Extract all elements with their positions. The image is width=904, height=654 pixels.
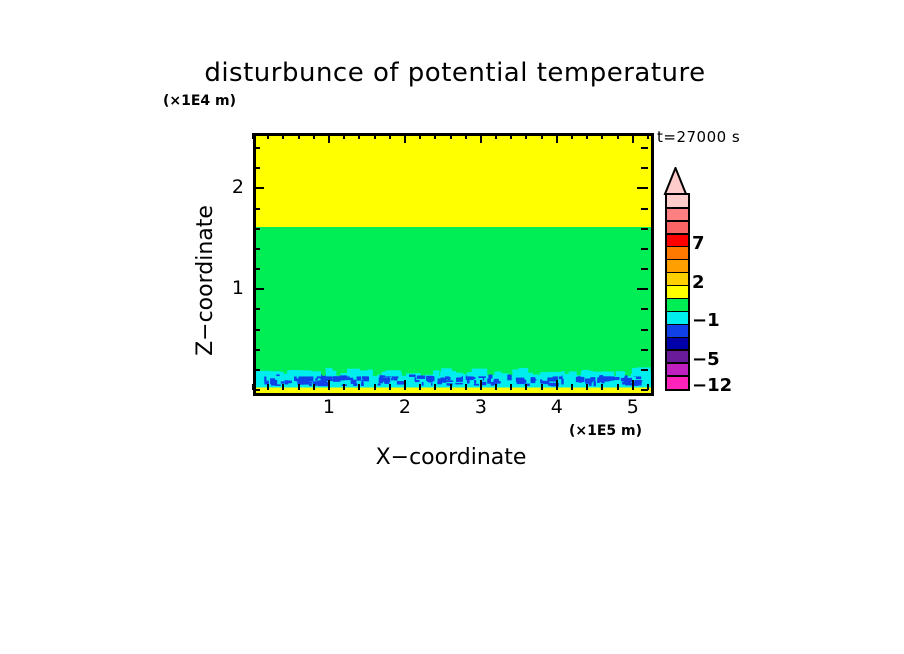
page-title: disturbunce of potential temperature [0,58,904,88]
colorbar-segment-divider [667,375,688,377]
x-minor-tick-top [252,133,254,139]
x-minor-tick [434,384,436,390]
x-minor-tick-top [601,133,603,139]
x-minor-tick-top [358,133,360,139]
y-minor-tick-right [641,167,648,169]
x-minor-tick-top [571,133,573,139]
colorbar-segment-divider [667,272,688,274]
x-minor-tick-top [419,133,421,139]
colorbar-segment [667,376,688,389]
y-minor-tick-right [641,329,648,331]
x-minor-tick-top [541,133,543,139]
y-major-tick-right [637,187,648,189]
y-minor-tick-right [641,147,648,149]
y-minor-tick [253,167,260,169]
x-tick-label: 2 [390,396,420,418]
y-major-tick [253,288,264,290]
x-minor-tick [419,384,421,390]
x-major-tick [480,380,482,390]
x-minor-tick-top [450,133,452,139]
y-minor-tick-right [641,349,648,351]
y-minor-tick-right [641,308,648,310]
x-minor-tick [450,384,452,390]
x-major-tick-top [556,133,558,143]
y-minor-tick-right [641,208,648,210]
x-minor-tick [389,384,391,390]
y-minor-tick [253,248,260,250]
y-major-tick-right [637,288,648,290]
y-minor-tick [253,349,260,351]
x-minor-tick [465,384,467,390]
y-axis-unit-label: (×1E4 m) [163,93,236,109]
y-minor-tick [253,389,260,391]
x-axis-unit-label: (×1E5 m) [569,423,642,439]
x-minor-tick-top [434,133,436,139]
y-axis-title: Z−coordinate [192,168,218,392]
colorbar-tick-label: −1 [692,310,720,331]
plot-area [253,133,654,396]
x-major-tick [328,380,330,390]
x-minor-tick-top [510,133,512,139]
x-minor-tick [510,384,512,390]
x-minor-tick-top [343,133,345,139]
y-minor-tick [253,308,260,310]
colorbar [665,193,690,391]
x-minor-tick [282,384,284,390]
colorbar-tick-label: −5 [692,349,720,370]
y-minor-tick [253,369,260,371]
y-major-tick [253,187,264,189]
x-minor-tick [541,384,543,390]
colorbar-segment-divider [667,207,688,209]
y-tick-label: 1 [224,277,244,299]
colorbar-segment-divider [667,349,688,351]
x-minor-tick-top [298,133,300,139]
y-minor-tick [253,208,260,210]
x-major-tick [404,380,406,390]
x-minor-tick-top [374,133,376,139]
x-minor-tick-top [389,133,391,139]
x-major-tick-top [480,133,482,143]
y-minor-tick-right [641,268,648,270]
x-minor-tick [586,384,588,390]
y-minor-tick-right [641,248,648,250]
x-minor-tick [343,384,345,390]
colorbar-tick-label: −12 [692,375,732,396]
y-minor-tick [253,147,260,149]
x-minor-tick-top [465,133,467,139]
colorbar-tick-label: 7 [692,233,705,254]
x-tick-label: 5 [618,396,648,418]
x-minor-tick-top [495,133,497,139]
time-label: t=27000 s [657,128,740,146]
colorbar-segment-divider [667,362,688,364]
surface-turbulence-noise [256,136,651,393]
y-minor-tick [253,329,260,331]
x-major-tick-top [632,133,634,143]
x-minor-tick-top [267,133,269,139]
x-minor-tick-top [525,133,527,139]
x-minor-tick-top [282,133,284,139]
y-minor-tick [253,228,260,230]
x-major-tick-top [404,133,406,143]
heatmap-field [256,136,651,393]
x-tick-label: 4 [542,396,572,418]
x-major-tick-top [328,133,330,143]
x-minor-tick [617,384,619,390]
chart-title-text: disturbunce of potential temperature [204,58,705,88]
x-minor-tick [313,384,315,390]
x-minor-tick-top [617,133,619,139]
x-minor-tick [601,384,603,390]
colorbar-segment-divider [667,220,688,222]
x-minor-tick-top [647,133,649,139]
colorbar-segment-divider [667,311,688,313]
colorbar-segment-divider [667,337,688,339]
colorbar-segment-divider [667,233,688,235]
x-minor-tick-top [313,133,315,139]
y-minor-tick [253,268,260,270]
colorbar-tick-label: 2 [692,272,705,293]
colorbar-segment-divider [667,285,688,287]
colorbar-segment-divider [667,324,688,326]
colorbar-segment-divider [667,259,688,261]
x-tick-label: 3 [466,396,496,418]
x-minor-tick [571,384,573,390]
y-minor-tick-right [641,369,648,371]
y-tick-label: 2 [224,176,244,198]
x-minor-tick [525,384,527,390]
colorbar-segment-divider [667,246,688,248]
x-minor-tick [374,384,376,390]
colorbar-extend-arrow [663,167,688,195]
figure-canvas: disturbunce of potential temperature (×1… [0,0,904,654]
x-major-tick [556,380,558,390]
y-minor-tick-right [641,228,648,230]
x-major-tick [632,380,634,390]
colorbar-segment-divider [667,298,688,300]
x-minor-tick-top [586,133,588,139]
x-tick-label: 1 [314,396,344,418]
x-axis-title: X−coordinate [0,445,904,470]
x-minor-tick [495,384,497,390]
y-minor-tick-right [641,389,648,391]
x-minor-tick [358,384,360,390]
x-minor-tick [267,384,269,390]
x-minor-tick [298,384,300,390]
